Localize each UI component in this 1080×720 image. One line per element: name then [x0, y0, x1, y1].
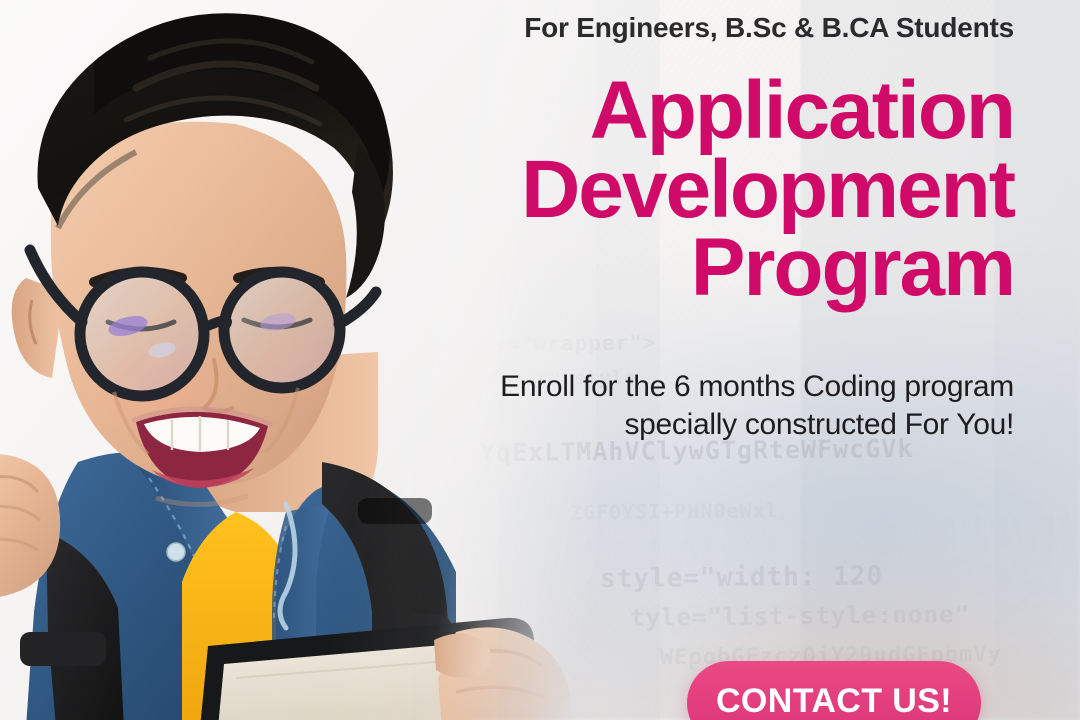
subheadline-description: Enroll for the 6 months Coding program s… [474, 368, 1014, 445]
code-line: ZGF0YSI+PHN0eWxl [570, 495, 1080, 524]
page-title: Application Development Program [521, 72, 1014, 308]
headline-line-1: Application [521, 72, 1014, 151]
student-photo [0, 0, 596, 720]
contact-us-button[interactable]: CONTACT US! [687, 661, 981, 720]
code-line: tyle="list-style:none" [630, 599, 1080, 632]
contact-us-button-label: CONTACT US! [716, 682, 952, 720]
code-line: style="width: 120 [600, 559, 1080, 594]
promotional-poster: <div class="wrapper"> s="sidebar" style … [0, 0, 1080, 720]
headline-line-2: Development [521, 151, 1014, 230]
eyebrow-audience-text: For Engineers, B.Sc & B.CA Students [524, 12, 1014, 44]
headline-line-3: Program [521, 229, 1014, 308]
